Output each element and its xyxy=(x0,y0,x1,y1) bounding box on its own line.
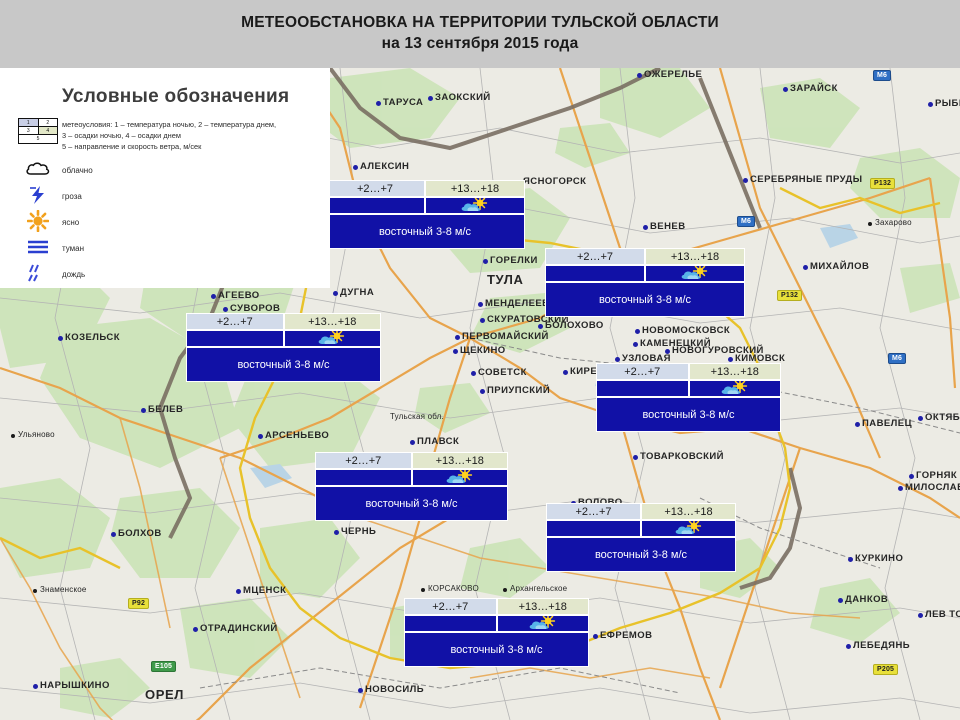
night-temperature: +2…+7 xyxy=(546,503,641,520)
road-shield: Е105 xyxy=(151,661,176,672)
city-dot xyxy=(633,342,638,347)
night-precipitation-cell xyxy=(545,265,645,282)
wind-description: восточный 3-8 м/с xyxy=(186,347,381,382)
day-temperature: +13…+18 xyxy=(497,598,590,615)
legend-item-label: туман xyxy=(62,240,84,255)
night-precipitation-cell xyxy=(325,197,425,214)
road-shield: Р132 xyxy=(777,290,802,301)
sun-behind-cloud-icon xyxy=(718,381,752,396)
city-dot xyxy=(563,370,568,375)
legend-description: метеоусловия: 1 – температура ночью, 2 –… xyxy=(62,118,276,152)
city-dot xyxy=(783,87,788,92)
city-dot xyxy=(615,357,620,362)
legend-item-дождь: дождь xyxy=(14,260,320,286)
city-dot xyxy=(918,416,923,421)
city-dot xyxy=(58,336,63,341)
city-dot xyxy=(665,349,670,354)
night-precipitation-cell xyxy=(596,380,689,397)
callout-aleksin[interactable]: +2…+7+13…+18восточный 3-8 м/с xyxy=(325,180,525,249)
city-dot xyxy=(223,307,228,312)
road-shield: Р205 xyxy=(873,664,898,675)
city-dot xyxy=(141,408,146,413)
legend-item-label: ясно xyxy=(62,214,79,229)
city-dot xyxy=(637,73,642,78)
city-dot xyxy=(410,440,415,445)
city-dot xyxy=(855,422,860,427)
legend-item-гроза: гроза xyxy=(14,182,320,208)
night-temperature: +2…+7 xyxy=(596,363,689,380)
day-precipitation-cell xyxy=(284,330,382,347)
legend-item-label: облачно xyxy=(62,162,93,177)
day-temperature: +13…+18 xyxy=(645,248,745,265)
night-precipitation-cell xyxy=(404,615,497,632)
callout-uzlovaya[interactable]: +2…+7+13…+18восточный 3-8 м/с xyxy=(596,363,781,432)
city-dot xyxy=(593,634,598,639)
callout-efremov[interactable]: +2…+7+13…+18восточный 3-8 м/с xyxy=(404,598,589,667)
city-dot xyxy=(193,627,198,632)
road-shield: М6 xyxy=(737,216,755,227)
callout-plavsk[interactable]: +2…+7+13…+18восточный 3-8 м/с xyxy=(315,452,508,521)
night-temperature: +2…+7 xyxy=(325,180,425,197)
city-dot xyxy=(358,688,363,693)
sun-behind-cloud-icon xyxy=(672,521,706,536)
lightning-icon xyxy=(14,186,62,204)
day-temperature: +13…+18 xyxy=(641,503,736,520)
city-dot xyxy=(11,434,15,438)
city-dot xyxy=(483,259,488,264)
legend-item-label: гроза xyxy=(62,188,82,203)
legend-desc-line-2: 3 – осадки ночью, 4 – осадки днем xyxy=(62,130,276,141)
night-temperature: +2…+7 xyxy=(186,313,284,330)
wind-description: восточный 3-8 м/с xyxy=(325,214,525,249)
legend-title: Условные обозначения xyxy=(62,86,320,108)
city-dot xyxy=(455,335,460,340)
callout-novomoskovsk[interactable]: +2…+7+13…+18восточный 3-8 м/с xyxy=(545,248,745,317)
city-dot xyxy=(918,613,923,618)
legend-schematic-symbol: 1 2 3 4 5 xyxy=(14,118,62,144)
callout-suvorov[interactable]: +2…+7+13…+18восточный 3-8 м/с xyxy=(186,313,381,382)
cloud-icon xyxy=(14,161,62,177)
city-dot xyxy=(453,349,458,354)
cell-3: 3 xyxy=(19,127,39,135)
road-shield: Р92 xyxy=(128,598,149,609)
legend-desc-line-1: метеоусловия: 1 – температура ночью, 2 –… xyxy=(62,119,276,130)
sun-behind-cloud-icon xyxy=(443,470,477,485)
night-temperature: +2…+7 xyxy=(315,452,412,469)
city-dot xyxy=(353,165,358,170)
city-dot xyxy=(898,486,903,491)
day-temperature: +13…+18 xyxy=(412,452,509,469)
legend-item-ясно: ясно xyxy=(14,208,320,234)
night-precipitation-cell xyxy=(186,330,284,347)
cell-1: 1 xyxy=(19,119,39,127)
night-precipitation-cell xyxy=(546,520,641,537)
city-dot xyxy=(928,102,933,107)
day-precipitation-cell xyxy=(689,380,782,397)
wind-description: восточный 3-8 м/с xyxy=(315,486,508,521)
legend-desc-line-3: 5 – направление и скорость ветра, м/сек xyxy=(62,141,276,152)
legend-item-label: дождь xyxy=(62,266,85,281)
fog-icon xyxy=(14,239,62,255)
sun-icon xyxy=(14,210,62,232)
legend-panel: Условные обозначения 1 2 3 4 5 метеоусло… xyxy=(0,68,330,288)
wind-description: восточный 3-8 м/с xyxy=(546,537,736,572)
road-shield: М6 xyxy=(873,70,891,81)
road-shield: Р132 xyxy=(870,178,895,189)
night-precipitation-cell xyxy=(315,469,412,486)
sun-behind-cloud-icon xyxy=(458,198,492,213)
city-dot xyxy=(334,530,339,535)
night-temperature: +2…+7 xyxy=(404,598,497,615)
sun-behind-cloud-icon xyxy=(315,331,349,346)
wind-description: восточный 3-8 м/с xyxy=(545,282,745,317)
legend-item-list: облачногрозаяснотумандождь xyxy=(14,156,320,286)
wind-description: восточный 3-8 м/с xyxy=(404,632,589,667)
city-dot xyxy=(471,371,476,376)
city-dot xyxy=(428,96,433,101)
city-dot xyxy=(846,644,851,649)
day-precipitation-cell xyxy=(497,615,590,632)
wind-description: восточный 3-8 м/с xyxy=(596,397,781,432)
city-dot xyxy=(868,222,872,226)
day-precipitation-cell xyxy=(641,520,736,537)
day-precipitation-cell xyxy=(425,197,525,214)
city-dot xyxy=(333,291,338,296)
city-dot xyxy=(728,357,733,362)
header-title-line1: МЕТЕООБСТАНОВКА НА ТЕРРИТОРИИ ТУЛЬСКОЙ О… xyxy=(241,13,719,34)
cell-5: 5 xyxy=(19,135,57,143)
day-temperature: +13…+18 xyxy=(689,363,782,380)
city-dot xyxy=(111,532,116,537)
city-dot xyxy=(236,589,241,594)
legend-item-туман: туман xyxy=(14,234,320,260)
city-dot xyxy=(848,557,853,562)
city-dot xyxy=(478,302,483,307)
city-dot xyxy=(376,101,381,106)
city-dot xyxy=(635,329,640,334)
header-title-line2: на 13 сентября 2015 года xyxy=(382,34,579,55)
city-dot xyxy=(480,389,485,394)
city-dot xyxy=(803,265,808,270)
city-dot xyxy=(480,318,485,323)
legend-item-облачно: облачно xyxy=(14,156,320,182)
page-header: МЕТЕООБСТАНОВКА НА ТЕРРИТОРИИ ТУЛЬСКОЙ О… xyxy=(0,0,960,68)
city-dot xyxy=(643,225,648,230)
day-precipitation-cell xyxy=(645,265,745,282)
day-precipitation-cell xyxy=(412,469,509,486)
cell-2: 2 xyxy=(39,119,58,127)
city-dot xyxy=(33,589,37,593)
city-dot xyxy=(538,324,543,329)
meteo-cell-grid: 1 2 3 4 5 xyxy=(18,118,58,144)
city-dot xyxy=(503,588,507,592)
callout-volovo[interactable]: +2…+7+13…+18восточный 3-8 м/с xyxy=(546,503,736,572)
cell-4: 4 xyxy=(39,127,58,135)
city-dot xyxy=(909,474,914,479)
road-shield: М6 xyxy=(888,353,906,364)
city-dot xyxy=(633,455,638,460)
sun-behind-cloud-icon xyxy=(526,616,560,631)
city-dot xyxy=(421,588,425,592)
city-dot xyxy=(838,598,843,603)
legend-schematic-row: 1 2 3 4 5 метеоусловия: 1 – температура … xyxy=(14,118,320,152)
city-dot xyxy=(211,294,216,299)
city-dot xyxy=(743,178,748,183)
day-temperature: +13…+18 xyxy=(425,180,525,197)
city-dot xyxy=(33,684,38,689)
sun-behind-cloud-icon xyxy=(678,266,712,281)
city-dot xyxy=(258,434,263,439)
rain-icon xyxy=(14,264,62,282)
night-temperature: +2…+7 xyxy=(545,248,645,265)
day-temperature: +13…+18 xyxy=(284,313,382,330)
